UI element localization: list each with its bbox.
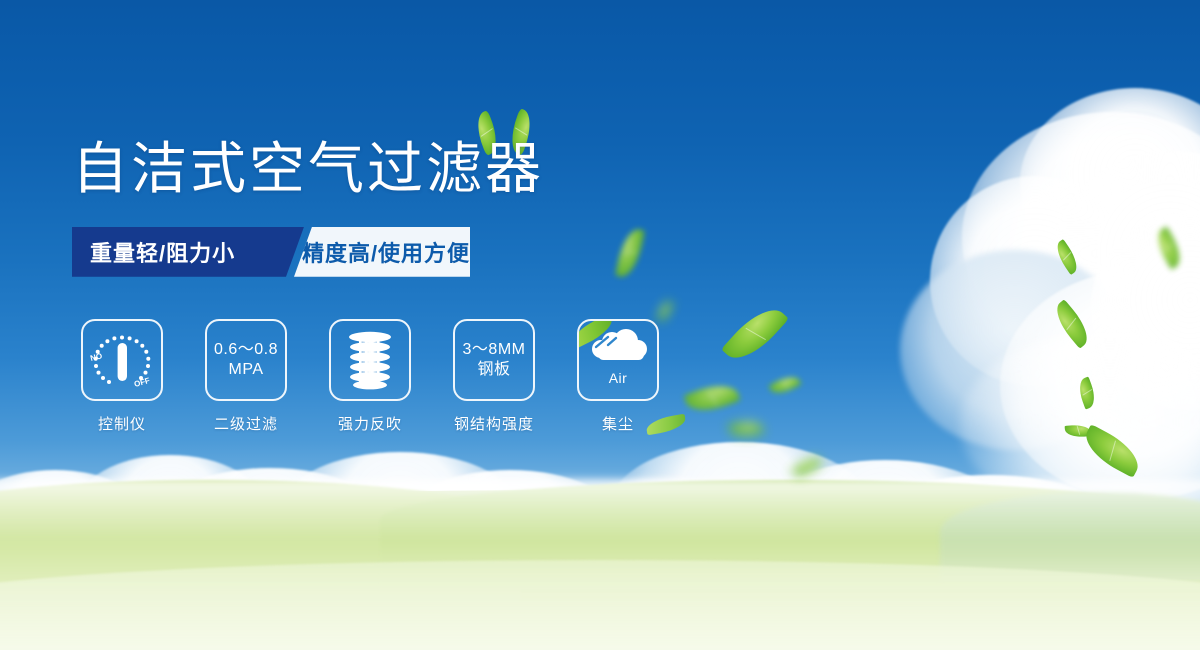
feature-icon-box: NO OFF (81, 319, 163, 401)
dial-off-label: OFF (133, 376, 151, 389)
feature-icon-box: Air (577, 319, 659, 401)
control-dial-icon: NO OFF (87, 327, 157, 393)
subtitle-tag-left: 重量轻/阻力小 (72, 227, 304, 277)
feature-label: 控制仪 (98, 413, 146, 434)
feature-icon-box (329, 319, 411, 401)
feature-label: 强力反吹 (338, 413, 402, 434)
feature-label: 二级过滤 (214, 413, 278, 434)
feature-item-steel[interactable]: 3～8MM 钢板 钢结构强度 (444, 319, 544, 434)
page-title: 自洁式空气过滤器 (72, 140, 712, 199)
subtitle-tag-right: 精度高/使用方便 (292, 227, 470, 277)
feature-item-backblow[interactable]: 强力反吹 (320, 319, 420, 434)
subtitle-tag-left-label: 重量轻/阻力小 (90, 236, 235, 268)
feature-item-pressure[interactable]: 0.6～0.8 MPA 二级过滤 (196, 319, 296, 434)
feature-label: 集尘 (602, 416, 634, 433)
subtitle-tag-right-label: 精度高/使用方便 (302, 236, 470, 268)
feature-list: NO OFF 控制仪 0.6～0.8 MPA 二级过滤 (72, 319, 712, 434)
air-label: Air (609, 370, 628, 387)
pressure-text-icon: 0.6～0.8 MPA (214, 340, 278, 379)
feature-icon-box: 3～8MM 钢板 (453, 319, 535, 401)
product-banner: 自洁式空气过滤器 重量轻/阻力小 精度高/使用方便 (0, 0, 1200, 650)
feature-item-dust[interactable]: Air 集尘 (568, 319, 668, 434)
filter-cartridge-icon (341, 329, 399, 391)
feature-icon-box: 0.6～0.8 MPA (205, 319, 287, 401)
feature-item-control[interactable]: NO OFF 控制仪 (72, 319, 172, 434)
dial-on-label: NO (89, 351, 103, 363)
feature-label-wrap: 集尘 (602, 413, 634, 434)
leaf-icon (645, 413, 687, 435)
grass-foreground (0, 560, 1200, 650)
steel-plate-text-icon: 3～8MM 钢板 (463, 340, 526, 379)
feature-label: 钢结构强度 (454, 413, 534, 434)
banner-content: 自洁式空气过滤器 重量轻/阻力小 精度高/使用方便 (72, 140, 712, 434)
grass-haze (0, 480, 1200, 540)
grass-field (0, 490, 1200, 650)
subtitle-bar: 重量轻/阻力小 精度高/使用方便 (72, 227, 462, 277)
